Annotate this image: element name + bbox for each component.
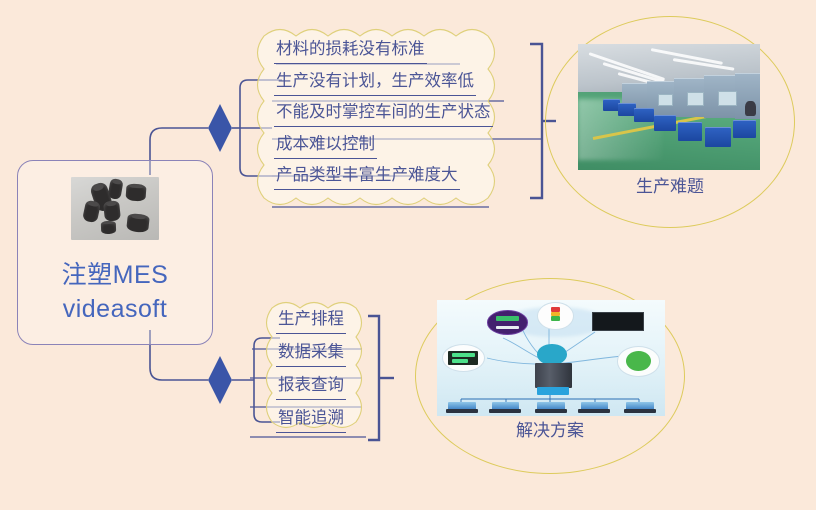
- function-item-label: 数据采集: [276, 342, 346, 367]
- diamond-connector-functions: [208, 356, 232, 404]
- problems-group: 材料的损耗没有标准 生产没有计划，生产效率低 不能及时掌控车间的生产状态 成本难…: [236, 22, 546, 212]
- function-item[interactable]: 数据采集: [276, 342, 406, 367]
- solution-architecture-diagram: [437, 300, 665, 416]
- solution-panel-caption: 解决方案: [415, 420, 685, 442]
- problem-item-label: 材料的损耗没有标准: [274, 39, 427, 64]
- function-item-label: 生产排程: [276, 309, 346, 334]
- factory-photo: [578, 44, 760, 170]
- functions-group: 生产排程 数据采集 报表查询 智能追溯: [250, 296, 380, 454]
- problems-item-list: 材料的损耗没有标准 生产没有计划，生产效率低 不能及时掌控车间的生产状态 成本难…: [236, 22, 584, 229]
- center-title-line1: 注塑MES: [62, 258, 169, 292]
- problem-item[interactable]: 生产没有计划，生产效率低: [274, 71, 584, 96]
- function-item-label: 报表查询: [276, 375, 346, 400]
- node-switch: [537, 387, 569, 395]
- center-node[interactable]: 注塑MES videasoft: [17, 160, 213, 345]
- diamond-connector-problems: [208, 104, 232, 152]
- problem-item-label: 生产没有计划，生产效率低: [274, 71, 476, 96]
- node-process-monitor: [592, 312, 644, 331]
- node-server: [535, 363, 571, 389]
- problem-panel-caption: 生产难题: [545, 176, 795, 198]
- node-alarm-board: [487, 310, 528, 334]
- problem-item[interactable]: 成本难以控制: [274, 134, 584, 159]
- functions-item-list: 生产排程 数据采集 报表查询 智能追溯: [250, 296, 406, 467]
- problem-panel: 生产难题: [545, 16, 795, 228]
- problem-item-label: 不能及时掌控车间的生产状态: [274, 102, 493, 127]
- center-title-line2: videasoft: [62, 292, 169, 326]
- function-item[interactable]: 生产排程: [276, 309, 406, 334]
- problem-item-label: 成本难以控制: [274, 134, 377, 159]
- function-item-label: 智能追溯: [276, 408, 346, 433]
- problem-item[interactable]: 产品类型丰富生产难度大: [274, 165, 584, 190]
- center-title: 注塑MES videasoft: [62, 258, 169, 326]
- mindmap-canvas: 注塑MES videasoft 材料的损耗没有标准 生产没有计划，生产效率低 不…: [0, 0, 816, 510]
- function-item[interactable]: 报表查询: [276, 375, 406, 400]
- function-item[interactable]: 智能追溯: [276, 408, 406, 433]
- node-mes-core: [537, 344, 567, 365]
- problem-item-label: 产品类型丰富生产难度大: [274, 165, 460, 190]
- solution-panel: 解决方案: [415, 278, 685, 474]
- problem-item[interactable]: 材料的损耗没有标准: [274, 39, 584, 64]
- problem-item[interactable]: 不能及时掌控车间的生产状态: [274, 102, 584, 127]
- center-product-photo: [71, 177, 159, 240]
